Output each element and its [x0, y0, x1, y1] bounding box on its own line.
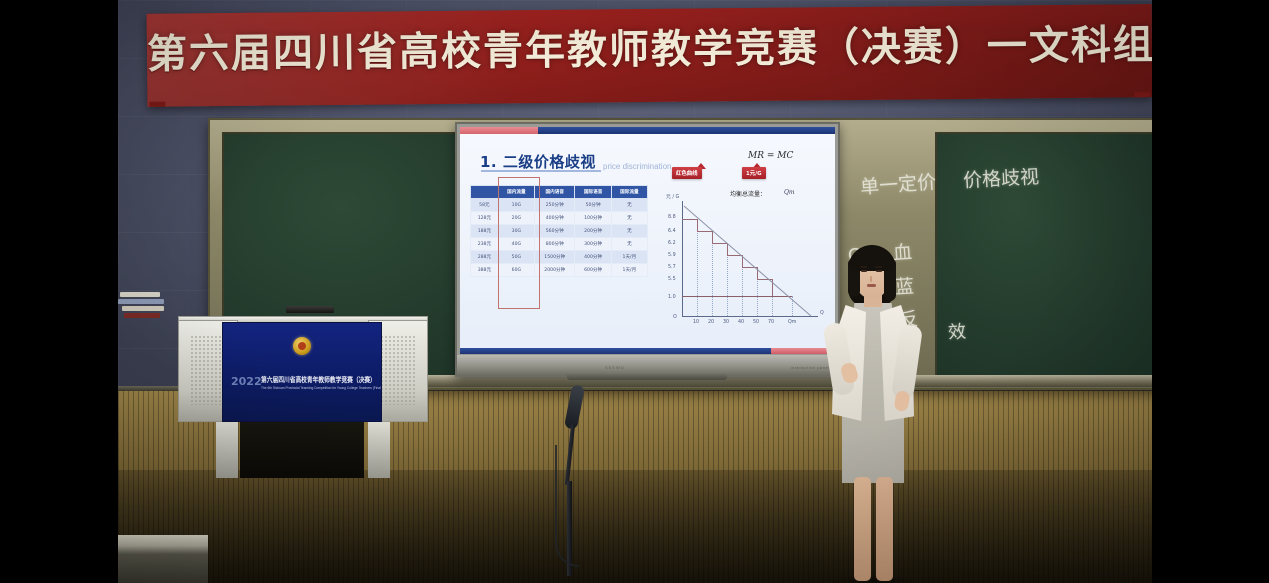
table-cell: 1500分钟 — [535, 251, 575, 264]
shelf-item — [122, 306, 164, 311]
table-cell: 无 — [611, 225, 647, 238]
shelf-item — [118, 299, 164, 304]
table-cell: 无 — [611, 212, 647, 225]
table-row: 188元30G560分钟200分钟无 — [471, 225, 648, 238]
banner-tab-left — [149, 102, 165, 107]
table-row: 388元60G2000分钟600分钟1天/月 — [471, 264, 648, 277]
presenter-leg-left — [854, 477, 871, 581]
table-cell: 100分钟 — [575, 212, 611, 225]
table-cell: 288元 — [471, 251, 499, 264]
table-cell: 无 — [611, 199, 647, 212]
banner-title-text: 第六届四川省高校青年教师教学竞赛（决赛）一文科组 — [147, 12, 1152, 80]
shelf-item — [120, 292, 160, 297]
slide-title-underline — [481, 170, 601, 172]
table-cell: 60G — [498, 264, 534, 277]
demand-curve-chart: MR = MC 红色曲线 1元/G 均衡总流量： Qm 元 / G Q 8.8 … — [656, 153, 828, 343]
lectern-year-label: 2022 — [231, 375, 262, 388]
shelf-items — [118, 292, 176, 322]
display-bezel: SEEWO interactive panel — [457, 355, 838, 375]
table-cell: 300分钟 — [575, 238, 611, 251]
presenter-mouth — [867, 284, 876, 287]
table-cell: 10G — [498, 199, 534, 212]
display-brand-label: SEEWO — [605, 365, 625, 370]
table-cell: 58元 — [471, 199, 499, 212]
table-cell: 20G — [498, 212, 534, 225]
lectern-device[interactable] — [286, 306, 334, 313]
table-header-cell: 国内流量 — [498, 186, 534, 199]
interactive-display[interactable]: 1. 二级价格歧视 price discrimination 国内流量 国内语音… — [455, 122, 840, 377]
chalk-note-price-discrimination: 价格歧视 — [962, 162, 1039, 193]
presenter-brow-left — [860, 266, 867, 268]
lectern-english-title: The 6th Sichuan Provincial Teaching Comp… — [261, 386, 382, 390]
table-cell: 50G — [498, 251, 534, 264]
chalk-note-7: 效 — [947, 317, 967, 344]
table-cell: 600分钟 — [575, 264, 611, 277]
table-row: 58元10G250分钟50分钟无 — [471, 199, 648, 212]
table-row: 288元50G1500分钟400分钟1天/月 — [471, 251, 648, 264]
table-cell: 无 — [611, 238, 647, 251]
slide-topbar-red — [460, 127, 538, 134]
table-cell: 188元 — [471, 225, 499, 238]
emblem-icon — [293, 337, 311, 355]
demand-curve-line — [656, 153, 828, 343]
microphone-stand[interactable] — [543, 385, 598, 583]
tariff-table: 国内流量 国内语音 国际语音 国际流量 58元10G250分钟50分钟无128元… — [470, 185, 648, 277]
wainscot-shadow — [118, 470, 1152, 583]
table-cell: 250分钟 — [535, 199, 575, 212]
screenshot-stage: 第六届四川省高校青年教师教学竞赛（决赛）一文科组 单一定价 价格歧视 CS 血 … — [0, 0, 1269, 583]
slide-topbar-blue — [538, 127, 835, 134]
table-header-cell: 国内语音 — [535, 186, 575, 199]
table-cell: 50分钟 — [575, 199, 611, 212]
lectern[interactable]: 2022 第六届四川省高校青年教师教学竞赛（决赛） The 6th Sichua… — [178, 298, 428, 478]
letterbox-right — [1152, 0, 1269, 583]
lectern-chinese-title: 第六届四川省高校青年教师教学竞赛（决赛） — [261, 375, 376, 385]
table-cell: 560分钟 — [535, 225, 575, 238]
table-header-cell: 国际流量 — [611, 186, 647, 199]
classroom-scene: 第六届四川省高校青年教师教学竞赛（决赛）一文科组 单一定价 价格歧视 CS 血 … — [118, 0, 1152, 583]
table-row: 128元20G400分钟100分钟无 — [471, 212, 648, 225]
table-cell: 400分钟 — [535, 212, 575, 225]
table-body: 58元10G250分钟50分钟无128元20G400分钟100分钟无188元30… — [471, 199, 648, 277]
table-cell: 388元 — [471, 264, 499, 277]
presenter-hair-top — [850, 247, 894, 271]
table-header-cell — [471, 186, 499, 199]
table-cell: 2000分钟 — [535, 264, 575, 277]
presentation-slide: 1. 二级价格歧视 price discrimination 国内流量 国内语音… — [460, 127, 835, 354]
competition-banner: 第六届四川省高校青年教师教学竞赛（决赛）一文科组 — [147, 4, 1152, 107]
display-tray — [567, 374, 727, 380]
lectern-base — [240, 422, 364, 478]
lectern-leg-right — [368, 422, 390, 478]
table-cell: 1天/月 — [611, 264, 647, 277]
table-cell: 128元 — [471, 212, 499, 225]
table-header-row: 国内流量 国内语音 国际语音 国际流量 — [471, 186, 648, 199]
table-cell: 800分钟 — [535, 238, 575, 251]
presenter-brow-right — [875, 266, 882, 268]
table-cell: 40G — [498, 238, 534, 251]
table-header-cell: 国际语音 — [575, 186, 611, 199]
speaker-grille-icon — [380, 335, 416, 405]
table-cell: 200分钟 — [575, 225, 611, 238]
microphone-icon — [564, 384, 585, 430]
letterbox-left — [0, 0, 118, 583]
presenter-shadow — [832, 575, 916, 583]
chalk-note-single-pricing: 单一定价 — [859, 167, 937, 199]
table-cell: 400分钟 — [575, 251, 611, 264]
slide-bottombar-blue — [460, 348, 771, 354]
table-cell: 30G — [498, 225, 534, 238]
microphone-cable — [555, 445, 579, 567]
shelf-item — [124, 313, 160, 318]
presenter-figure — [806, 245, 936, 583]
table-cell: 1天/月 — [611, 251, 647, 264]
side-table — [118, 535, 208, 583]
lectern-leg-left — [216, 422, 238, 478]
presenter-leg-right — [876, 477, 893, 581]
speaker-grille-icon — [190, 335, 226, 405]
slide-title: 1. 二级价格歧视 — [480, 151, 596, 172]
table-cell: 238元 — [471, 238, 499, 251]
table-row: 238元40G800分钟300分钟无 — [471, 238, 648, 251]
lectern-banner-panel: 2022 第六届四川省高校青年教师教学竞赛（决赛） The 6th Sichua… — [222, 322, 382, 422]
